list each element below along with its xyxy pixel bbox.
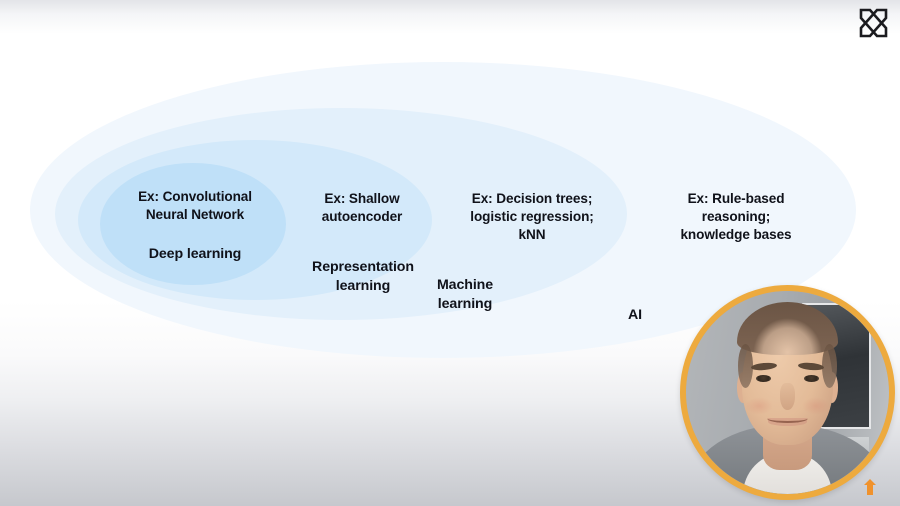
slide-canvas: Ex: Convolutional Neural Network Deep le…: [0, 0, 900, 506]
presenter-eye-right: [804, 375, 819, 382]
presenter-cheek-right: [802, 397, 830, 415]
presenter-cheek-left: [745, 397, 773, 415]
x-mark-logo-icon: [853, 3, 893, 43]
tier-label-machine-learning: Machine learning: [399, 276, 531, 314]
example-label-machine-learning: Ex: Decision trees; logistic regression;…: [443, 190, 621, 244]
example-label-ai: Ex: Rule-based reasoning; knowledge base…: [636, 190, 836, 244]
example-label-representation-learning: Ex: Shallow autoencoder: [288, 190, 436, 226]
tier-label-ai: AI: [608, 306, 662, 325]
presenter-webcam[interactable]: [680, 285, 895, 500]
webcam-video-frame: [686, 291, 889, 494]
example-label-deep-learning: Ex: Convolutional Neural Network: [105, 188, 285, 224]
orange-arrow-up-icon[interactable]: [862, 478, 878, 496]
presenter-nose: [780, 383, 794, 409]
